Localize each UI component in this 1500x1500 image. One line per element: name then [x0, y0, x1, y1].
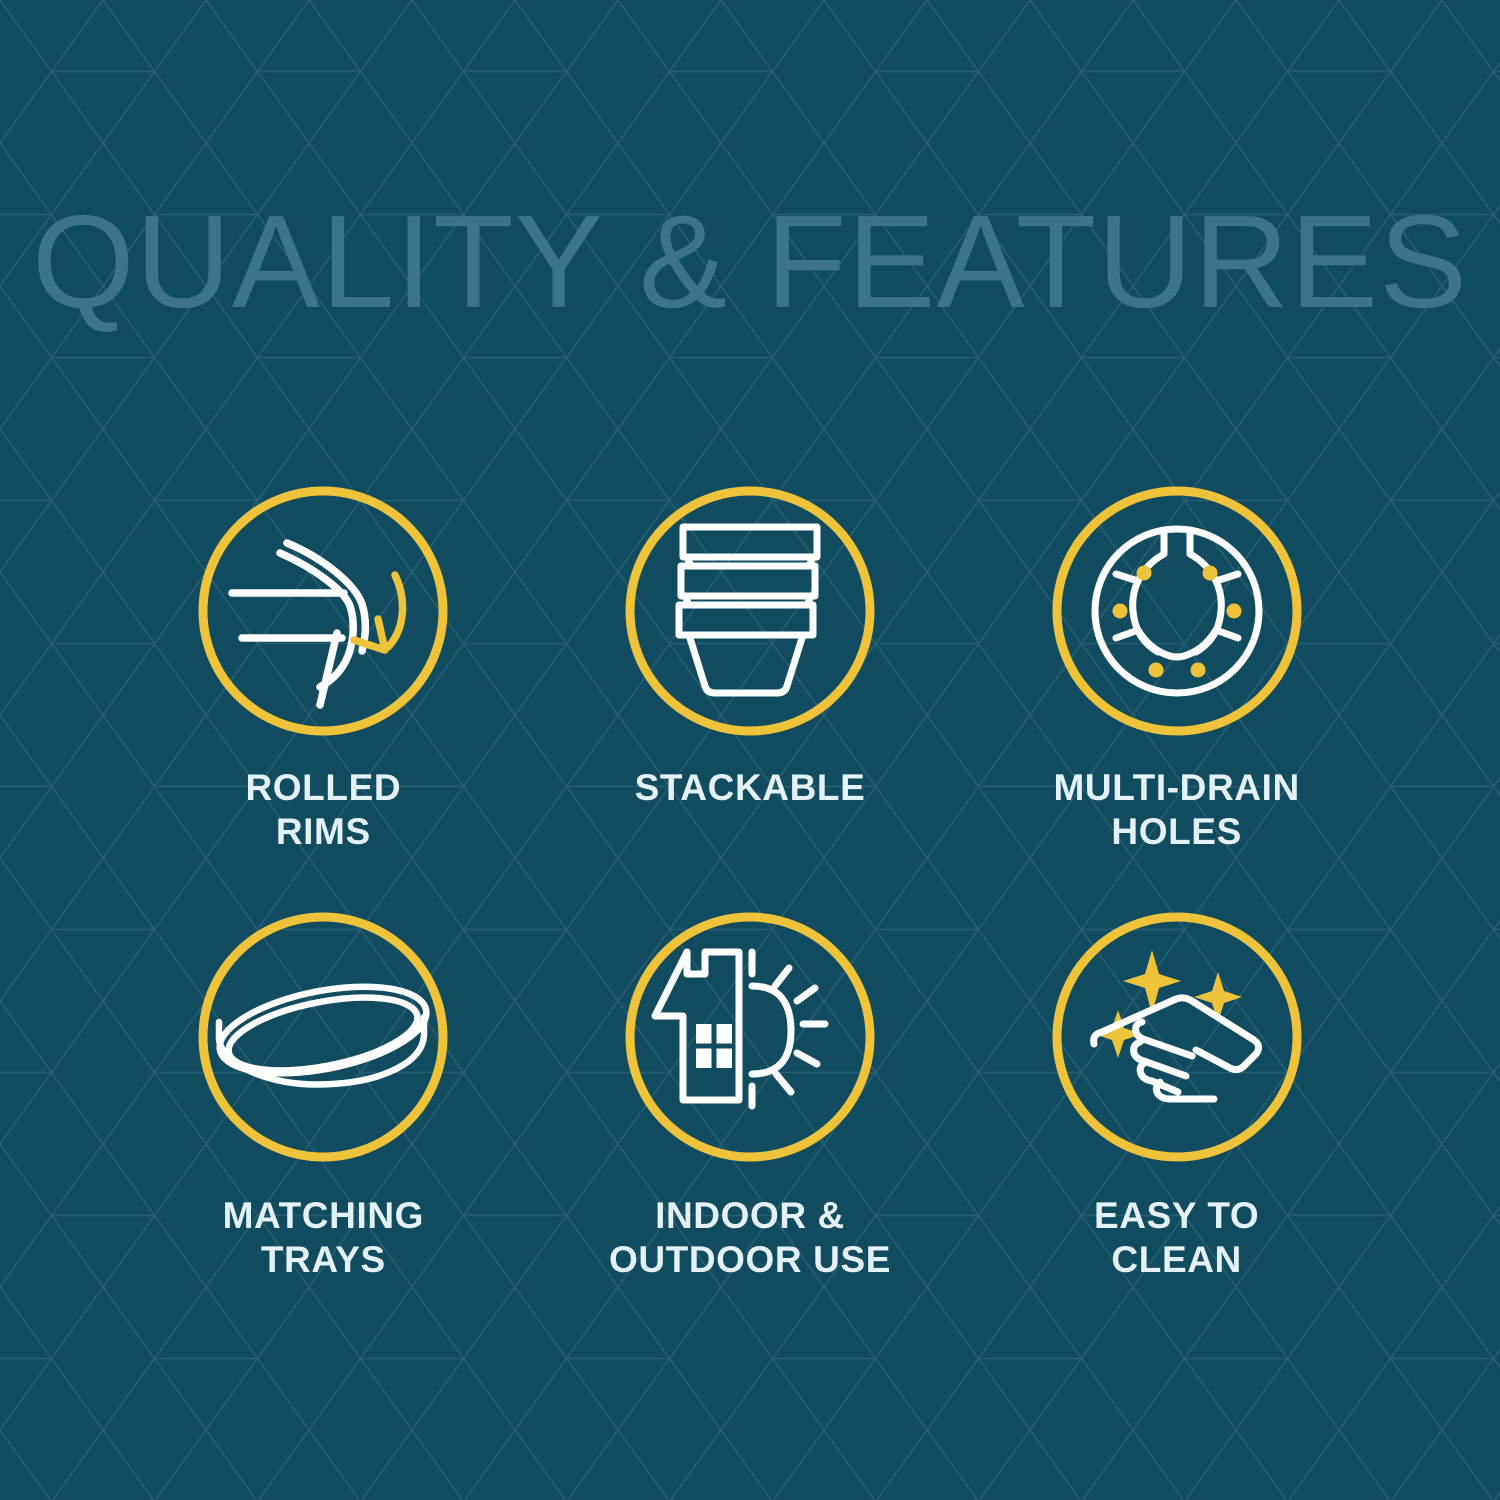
rolled-rim-cross-section-icon: [192, 480, 454, 742]
feature-label: MULTI-DRAIN HOLES: [1053, 766, 1299, 853]
feature-stackable: STACKABLE: [537, 480, 964, 906]
feature-easy-to-clean: EASY TO CLEAN: [963, 906, 1390, 1332]
feature-rolled-rims: ROLLED RIMS: [110, 480, 537, 906]
feature-label: STACKABLE: [635, 766, 866, 810]
pot-base-drain-holes-icon: [1046, 480, 1308, 742]
saucer-tray-icon: [192, 906, 454, 1168]
feature-label: EASY TO CLEAN: [1094, 1194, 1259, 1281]
hand-wiping-sparkles-icon: [1046, 906, 1308, 1168]
feature-multi-drain-holes: MULTI-DRAIN HOLES: [963, 480, 1390, 906]
house-and-sun-icon: [619, 906, 881, 1168]
page-title: QUALITY & FEATURES: [0, 196, 1500, 328]
quality-and-features-infographic: QUALITY & FEATURES: [0, 0, 1500, 1500]
feature-indoor-outdoor-use: INDOOR & OUTDOOR USE: [537, 906, 964, 1332]
feature-matching-trays: MATCHING TRAYS: [110, 906, 537, 1332]
feature-label: MATCHING TRAYS: [223, 1194, 424, 1281]
stacked-pots-icon: [619, 480, 881, 742]
feature-label: INDOOR & OUTDOOR USE: [609, 1194, 891, 1281]
features-grid: ROLLED RIMS STACKABLE: [110, 480, 1390, 1332]
feature-label: ROLLED RIMS: [245, 766, 401, 853]
